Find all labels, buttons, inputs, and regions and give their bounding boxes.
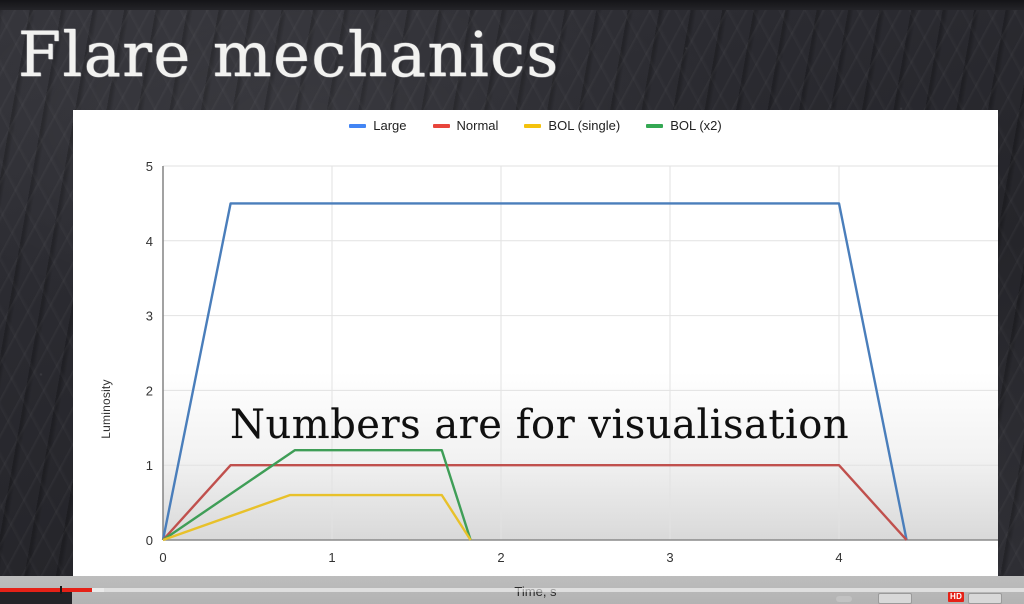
svg-text:2: 2 xyxy=(497,550,504,565)
y-tick-labels: 5 4 3 2 1 0 xyxy=(146,159,153,548)
svg-text:3: 3 xyxy=(146,309,153,324)
video-frame: Flare mechanics Large Normal BOL (single… xyxy=(0,0,1024,604)
player-control-settings[interactable] xyxy=(878,593,912,604)
svg-text:0: 0 xyxy=(159,550,166,565)
progress-bar-scrubber[interactable] xyxy=(60,586,62,594)
svg-text:1: 1 xyxy=(146,458,153,473)
plot-background xyxy=(163,166,998,540)
chart-panel: Large Normal BOL (single) BOL (x2) Lumin… xyxy=(73,110,998,576)
video-letterbox-top xyxy=(0,0,1024,10)
line-chart: 5 4 3 2 1 0 0 1 2 3 4 5 xyxy=(73,110,998,576)
svg-text:4: 4 xyxy=(146,234,153,249)
svg-text:3: 3 xyxy=(666,550,673,565)
svg-text:4: 4 xyxy=(835,550,842,565)
hd-badge: HD xyxy=(948,592,964,602)
svg-text:2: 2 xyxy=(146,383,153,398)
chart-annotation: Numbers are for visualisation xyxy=(230,402,849,448)
svg-text:5: 5 xyxy=(146,159,153,174)
player-control-fullscreen[interactable] xyxy=(968,593,1002,604)
x-tick-labels: 0 1 2 3 4 5 xyxy=(159,550,998,565)
progress-bar-played[interactable] xyxy=(0,588,92,592)
svg-text:1: 1 xyxy=(328,550,335,565)
progress-bar-track[interactable] xyxy=(0,588,1024,592)
svg-text:0: 0 xyxy=(146,533,153,548)
player-control-volume[interactable] xyxy=(836,596,852,602)
page-title: Flare mechanics xyxy=(18,16,658,96)
